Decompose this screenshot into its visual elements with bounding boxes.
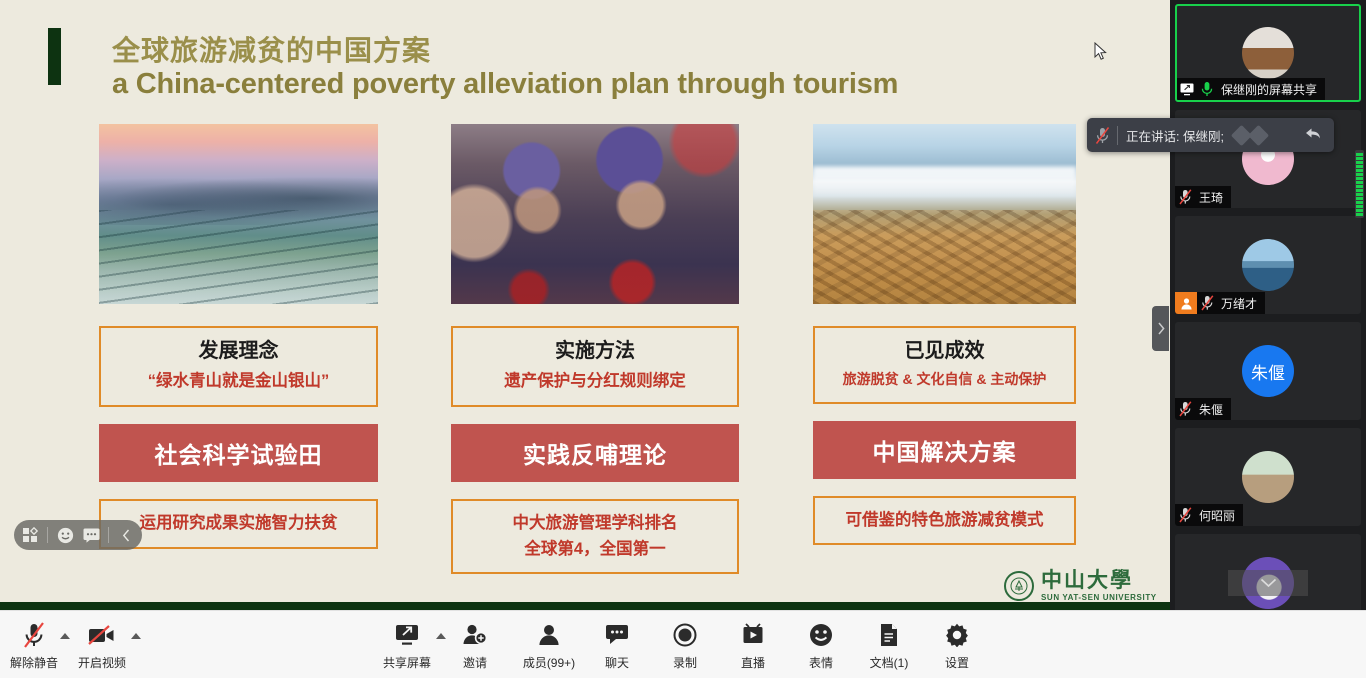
presentation-slide: 全球旅游减贫的中国方案 a China-centered poverty all… [0, 0, 1170, 610]
photo-mountain-village [813, 124, 1076, 304]
toolbar-button-settings[interactable]: 设置 [925, 620, 989, 671]
university-name-en: SUN YAT-SEN UNIVERSITY [1041, 594, 1157, 602]
invite-person-icon [462, 620, 488, 650]
record-icon [673, 620, 697, 650]
video-tile-5[interactable] [1175, 534, 1361, 610]
toolbar-button-live[interactable]: 直播 [721, 620, 785, 671]
avatar [1242, 451, 1294, 503]
mic-active-icon [1197, 78, 1217, 100]
mouse-cursor [1094, 42, 1107, 66]
speaking-status-bar[interactable]: 正在讲话: 保继刚; [1087, 118, 1334, 152]
toolbar-label-video: 开启视频 [78, 654, 126, 671]
mic-muted-icon [22, 620, 46, 650]
toolbar-label-chat: 聊天 [605, 654, 629, 671]
video-tile-2[interactable]: 万绪才 [1175, 216, 1361, 314]
emoji-icon [809, 620, 833, 650]
participant-namebar-2: 万绪才 [1175, 292, 1265, 314]
note-card-3: 可借鉴的特色旅游减贫模式 [813, 496, 1076, 546]
participant-name-4: 何昭丽 [1199, 507, 1235, 524]
participant-namebar-4: 何昭丽 [1175, 504, 1243, 526]
card-subtitle-3: 旅游脱贫 & 文化自信 & 主动保护 [821, 370, 1068, 390]
shared-screen-area: 全球旅游减贫的中国方案 a China-centered poverty all… [0, 0, 1170, 610]
toolbar-button-participants[interactable]: 成员(99+) [517, 620, 581, 671]
slide-column-2: 实施方法 遗产保护与分红规则绑定 实践反哺理论 中大旅游管理学科排名 全球第4，… [451, 124, 739, 574]
shapes-grid-icon[interactable] [21, 526, 39, 544]
note-line-2b: 全球第4，全国第一 [457, 537, 733, 563]
video-tile-4[interactable]: 何昭丽 [1175, 428, 1361, 526]
note-line-2a: 中大旅游管理学科排名 [457, 511, 733, 537]
highlight-card-3: 中国解决方案 [813, 421, 1076, 479]
screen-share-icon [1177, 78, 1197, 100]
participants-icon [537, 620, 561, 650]
slide-column-1: 发展理念 “绿水青山就是金山银山” 社会科学试验田 运用研究成果实施智力扶贫 [99, 124, 378, 549]
toolbar-button-mute[interactable]: 解除静音 [2, 620, 66, 671]
toolbar-button-record[interactable]: 录制 [653, 620, 717, 671]
participant-name-1: 王琦 [1199, 189, 1223, 206]
toolbar-label-share-screen: 共享屏幕 [383, 654, 431, 671]
mute-options-caret[interactable] [60, 633, 70, 639]
highlight-card-1: 社会科学试验田 [99, 424, 378, 482]
participant-namebar-1: 王琦 [1175, 186, 1231, 208]
concept-card-2: 实施方法 遗产保护与分红规则绑定 [451, 326, 739, 407]
card-heading-1: 发展理念 [107, 338, 370, 365]
toolbar-divider-2 [108, 527, 109, 543]
scroll-down-chevron-icon[interactable] [1228, 570, 1308, 596]
toolbar-button-document[interactable]: 文档(1) [857, 620, 921, 671]
concept-card-3: 已见成效 旅游脱贫 & 文化自信 & 主动保护 [813, 326, 1076, 404]
card-heading-3: 已见成效 [821, 338, 1068, 365]
toolbar-label-mute: 解除静音 [10, 654, 58, 671]
university-logo: 中山大學 SUN YAT-SEN UNIVERSITY [1004, 570, 1157, 602]
mic-muted-icon [1175, 504, 1195, 526]
photo-villagers [451, 124, 739, 304]
card-heading-2: 实施方法 [459, 338, 731, 365]
toolbar-button-emoji[interactable]: 表情 [789, 620, 853, 671]
host-badge-icon [1175, 292, 1197, 314]
university-name-cn: 中山大學 [1041, 570, 1157, 591]
participant-name-3: 朱偃 [1199, 401, 1223, 418]
note-card-1: 运用研究成果实施智力扶贫 [99, 499, 378, 549]
note-line-1a: 运用研究成果实施智力扶贫 [105, 511, 372, 537]
slide-title-chinese: 全球旅游减贫的中国方案 [112, 29, 431, 69]
title-accent-bar [48, 28, 61, 85]
university-seal-icon [1004, 571, 1034, 601]
toolbar-label-document: 文档(1) [870, 654, 909, 671]
participant-video-panel: 保继刚的屏幕共享 王琦 [1170, 0, 1366, 610]
document-icon [879, 620, 899, 650]
participant-name-0: 保继刚的屏幕共享 [1221, 81, 1317, 98]
drag-handle-icon[interactable] [1234, 128, 1266, 143]
video-panel-collapse-handle[interactable] [1152, 306, 1169, 351]
video-tile-3[interactable]: 朱偃 朱偃 [1175, 322, 1361, 420]
toolbar-divider [47, 527, 48, 543]
toolbar-label-participants: 成员(99+) [523, 654, 575, 671]
chat-bubble-icon[interactable] [82, 526, 100, 544]
toolbar-label-record: 录制 [673, 654, 697, 671]
share-screen-icon [394, 620, 420, 650]
highlight-label-1: 社会科学试验田 [105, 436, 372, 470]
slide-bottom-strip [0, 602, 1170, 610]
toolbar-label-live: 直播 [741, 654, 765, 671]
highlight-label-3: 中国解决方案 [819, 433, 1070, 467]
video-tile-0[interactable]: 保继刚的屏幕共享 [1175, 4, 1361, 102]
toolbar-button-chat[interactable]: 聊天 [585, 620, 649, 671]
chat-icon [605, 620, 629, 650]
participant-namebar-0: 保继刚的屏幕共享 [1177, 78, 1325, 100]
mic-muted-icon [1197, 292, 1217, 314]
photo-rice-terraces [99, 124, 378, 304]
live-stream-icon [741, 620, 765, 650]
avatar [1242, 27, 1294, 79]
concept-card-1: 发展理念 “绿水青山就是金山银山” [99, 326, 378, 407]
toolbar-button-invite[interactable]: 邀请 [443, 620, 507, 671]
annotation-floating-toolbar[interactable] [14, 520, 142, 550]
mic-muted-icon [1175, 398, 1195, 420]
settings-gear-icon [945, 620, 969, 650]
participant-name-2: 万绪才 [1221, 295, 1257, 312]
speaking-status-text: 正在讲话: 保继刚; [1126, 126, 1224, 145]
slide-column-3: 已见成效 旅游脱贫 & 文化自信 & 主动保护 中国解决方案 可借鉴的特色旅游减… [813, 124, 1076, 545]
toolbar-label-emoji: 表情 [809, 654, 833, 671]
toolbar-button-share-screen[interactable]: 共享屏幕 [375, 620, 439, 671]
meeting-control-bar: 解除静音 开启视频 共享屏幕 [0, 610, 1366, 678]
zoom-meeting-window: 全球旅游减贫的中国方案 a China-centered poverty all… [0, 0, 1366, 678]
note-line-3a: 可借鉴的特色旅游减贫模式 [819, 508, 1070, 534]
emoji-icon[interactable] [56, 526, 74, 544]
avatar: 朱偃 [1242, 345, 1294, 397]
toolbar-label-settings: 设置 [945, 654, 969, 671]
highlight-label-2: 实践反哺理论 [457, 436, 733, 470]
back-arrow-icon[interactable] [1305, 127, 1321, 144]
collapse-chevron-left-icon[interactable] [117, 526, 135, 544]
video-off-icon [87, 620, 117, 650]
toolbar-label-invite: 邀请 [463, 654, 487, 671]
participant-namebar-3: 朱偃 [1175, 398, 1231, 420]
audio-level-meter [1355, 150, 1364, 218]
video-options-caret[interactable] [131, 633, 141, 639]
slide-title-english: a China-centered poverty alleviation pla… [112, 68, 898, 101]
card-subtitle-1: “绿水青山就是金山银山” [107, 370, 370, 393]
highlight-card-2: 实践反哺理论 [451, 424, 739, 482]
note-card-2: 中大旅游管理学科排名 全球第4，全国第一 [451, 499, 739, 574]
mic-muted-icon [1175, 186, 1195, 208]
card-subtitle-2: 遗产保护与分红规则绑定 [459, 370, 731, 393]
speaking-bar-divider [1117, 126, 1118, 145]
toolbar-button-video[interactable]: 开启视频 [70, 620, 134, 671]
avatar [1242, 239, 1294, 291]
mic-muted-icon[interactable] [1087, 126, 1117, 145]
